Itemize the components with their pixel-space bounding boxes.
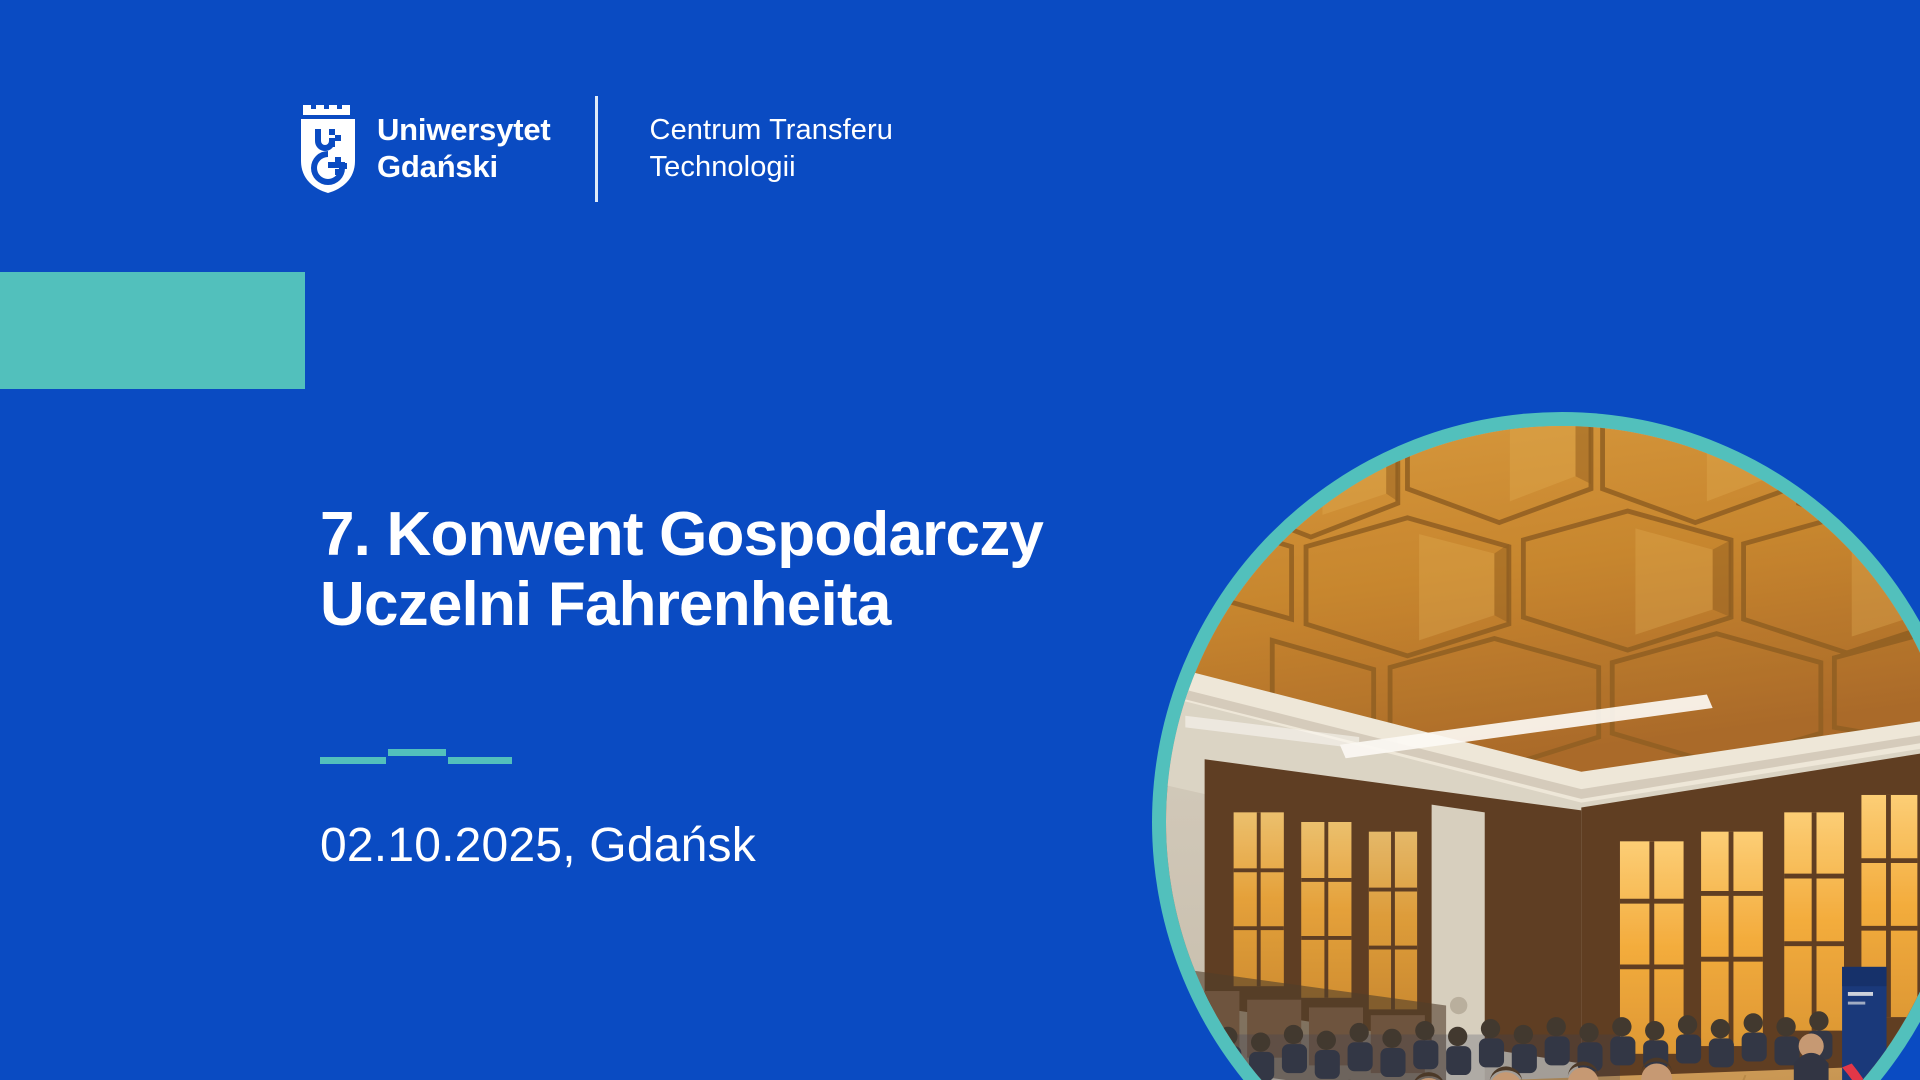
page-title: 7. Konwent Gospodarczy Uczelni Fahrenhei…	[320, 500, 1260, 640]
dash-segment-left	[320, 757, 386, 764]
teal-accent-block	[0, 272, 305, 389]
event-announcement-slide: Uniwersytet Gdański Centrum Transferu Te…	[0, 0, 1920, 1080]
logo-lockup: Uniwersytet Gdański Centrum Transferu Te…	[298, 96, 893, 202]
date-location-text: 02.10.2025, Gdańsk	[320, 818, 756, 873]
dash-segment-right	[448, 757, 512, 764]
unit-name: Centrum Transferu Technologii	[650, 112, 893, 186]
university-name: Uniwersytet Gdański	[377, 112, 551, 185]
auditorium-photo-circle	[1152, 412, 1920, 1080]
lockup-divider	[595, 96, 598, 202]
teal-dash-rule	[320, 748, 512, 766]
dash-segment-middle	[388, 749, 446, 756]
ug-shield-crest-icon	[298, 103, 358, 195]
auditorium-photo	[1166, 426, 1920, 1080]
